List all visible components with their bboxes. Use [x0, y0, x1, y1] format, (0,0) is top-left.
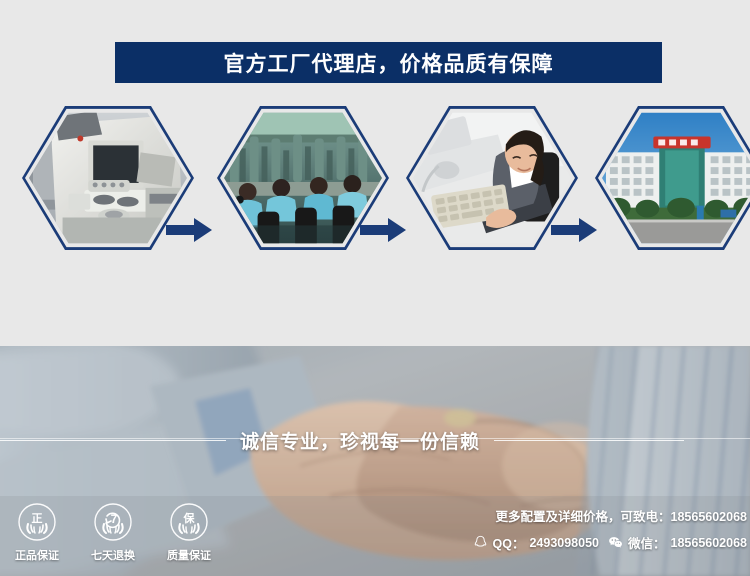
guarantee-badges: 正 正品保证 7 [8, 502, 218, 574]
svg-text:7: 7 [111, 512, 118, 526]
process-step-building [595, 103, 750, 253]
page-title: 官方工厂代理店，价格品质有保障 [224, 48, 554, 78]
qq-penguin-icon [473, 535, 488, 550]
guarantee-badge-label: 正品保证 [15, 547, 59, 563]
qq-number: 2493098050 [529, 536, 599, 550]
wechat-number: 18565602068 [671, 536, 747, 550]
svg-text:保: 保 [183, 511, 196, 525]
section-divider [0, 438, 750, 439]
guarantee-badge-label: 质量保证 [167, 547, 211, 563]
slogan-rule-left [0, 440, 226, 441]
arrow-1-icon [166, 217, 212, 243]
wechat-label: 微信： [628, 533, 666, 552]
promo-banner-page: 官方工厂代理店，价格品质有保障 [0, 0, 750, 576]
slogan-rule-right [494, 440, 684, 441]
guarantee-badge: 7 七天退换 [84, 502, 142, 574]
arrow-2-icon [360, 217, 406, 243]
handshake-section: 诚信专业，珍视每一份信赖 正 [0, 346, 750, 576]
process-flow [0, 95, 750, 325]
svg-text:正: 正 [32, 512, 43, 525]
hands-holding-bao-icon: 保 [169, 502, 209, 542]
contact-phone-line: 更多配置及详细价格，可致电：18565602068 [455, 506, 747, 525]
guarantee-badge: 保 质量保证 [160, 502, 218, 574]
hands-holding-seven-icon: 7 [93, 502, 133, 542]
header-banner: 官方工厂代理店，价格品质有保障 [115, 42, 662, 83]
slogan-text: 诚信专业，珍视每一份信赖 [240, 427, 480, 454]
qq-label: QQ： [493, 533, 525, 552]
guarantee-badge-label: 七天退换 [91, 547, 135, 563]
slogan-row: 诚信专业，珍视每一份信赖 [0, 422, 750, 458]
top-section: 官方工厂代理店，价格品质有保障 [0, 0, 750, 346]
contact-im-line: QQ： 2493098050 微信： 18565602068 [455, 533, 747, 552]
wechat-icon [608, 535, 623, 550]
arrow-3-icon [551, 217, 597, 243]
contact-block: 更多配置及详细价格，可致电：18565602068 QQ： 2493098050 [455, 506, 747, 552]
guarantee-badge: 正 正品保证 [8, 502, 66, 574]
hands-holding-zheng-icon: 正 [17, 502, 57, 542]
